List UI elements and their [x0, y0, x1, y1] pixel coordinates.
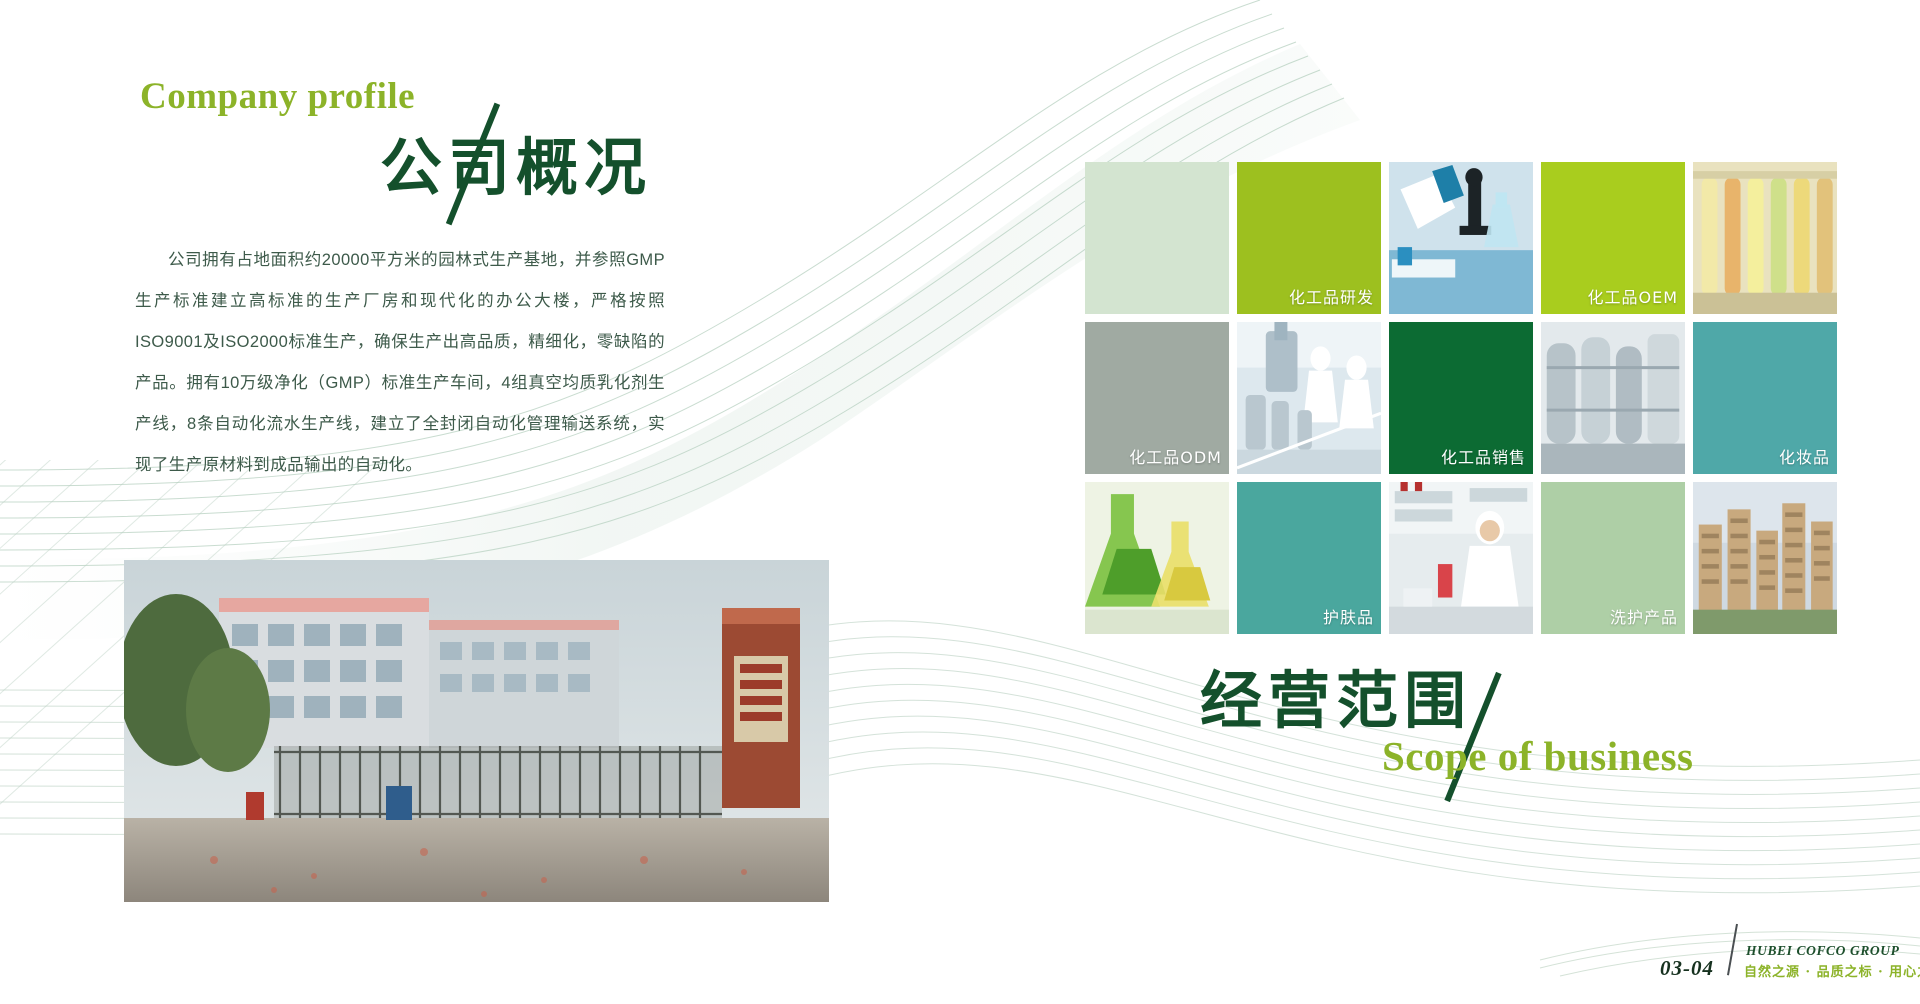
- grid-cell-5[interactable]: [1693, 162, 1837, 314]
- page-canvas: Company profile 公司概况 公司拥有占地面积约20000平方米的园…: [0, 0, 1920, 1004]
- water-treatment-equipment-photo: [1541, 322, 1685, 474]
- test-tubes-photo: [1693, 162, 1837, 314]
- grid-cell-label: 化工品OEM: [1587, 284, 1678, 308]
- page-footer: 03-04 HUBEI COFCO GROUP 自然之源 · 品质之标 · 用心…: [1640, 938, 1920, 994]
- company-profile-body: 公司拥有占地面积约20000平方米的园林式生产基地，并参照GMP生产标准建立高标…: [135, 240, 665, 486]
- grid-cell-9[interactable]: [1541, 322, 1685, 474]
- company-profile-title-cn: 公司概况: [380, 117, 652, 207]
- grid-cell-label: 化工品研发: [1289, 284, 1374, 308]
- company-profile-section: Company profile 公司概况 公司拥有占地面积约20000平方米的园…: [0, 0, 760, 1004]
- scope-of-business-heading: 经营范围 Scope of business: [1200, 650, 1820, 820]
- grid-cell-4-labeled[interactable]: 化工品OEM: [1541, 162, 1685, 314]
- grid-cell-label: 化妆品: [1779, 444, 1830, 468]
- grid-cell-13[interactable]: [1389, 482, 1533, 634]
- cleanroom-workers-photo: [1237, 322, 1381, 474]
- company-profile-title-en: Company profile: [140, 75, 415, 118]
- grid-cell-2-labeled[interactable]: 化工品研发: [1237, 162, 1381, 314]
- scope-image-grid: 化工品研发 化工品OEM 化工品ODM: [1085, 162, 1837, 634]
- grid-cell-label: 洗护产品: [1610, 604, 1678, 628]
- brand-slogan-cn: 自然之源 · 品质之标 · 用心之作: [1744, 961, 1920, 980]
- company-profile-paragraph: 公司拥有占地面积约20000平方米的园林式生产基地，并参照GMP生产标准建立高标…: [135, 240, 665, 486]
- city-buildings-photo: [1693, 482, 1837, 634]
- grid-cell-8-labeled[interactable]: 化工品销售: [1389, 322, 1533, 474]
- grid-cell-7[interactable]: [1237, 322, 1381, 474]
- grid-cell-10-labeled[interactable]: 化妆品: [1693, 322, 1837, 474]
- lab-microscope-photo: [1389, 162, 1533, 314]
- grid-cell-14-labeled[interactable]: 洗护产品: [1541, 482, 1685, 634]
- scope-title-en: Scope of business: [1382, 732, 1694, 780]
- company-profile-heading: Company profile 公司概况: [140, 75, 700, 225]
- grid-cell-label: 护肤品: [1323, 604, 1374, 628]
- grid-cell-6-labeled[interactable]: 化工品ODM: [1085, 322, 1229, 474]
- grid-cell-3[interactable]: [1389, 162, 1533, 314]
- grid-cell-label: 化工品销售: [1441, 444, 1526, 468]
- grid-cell-11[interactable]: [1085, 482, 1229, 634]
- lab-technician-photo: [1389, 482, 1533, 634]
- scope-title-cn: 经营范围: [1200, 650, 1472, 740]
- page-number: 03-04: [1660, 956, 1714, 981]
- grid-cell-12-labeled[interactable]: 护肤品: [1237, 482, 1381, 634]
- grid-cell-1[interactable]: [1085, 162, 1229, 314]
- grid-cell-label: 化工品ODM: [1129, 444, 1222, 468]
- green-liquid-flasks-photo: [1085, 482, 1229, 634]
- grid-cell-15[interactable]: [1693, 482, 1837, 634]
- factory-exterior-photo: [124, 560, 829, 902]
- brand-name-en: HUBEI COFCO GROUP: [1746, 943, 1899, 959]
